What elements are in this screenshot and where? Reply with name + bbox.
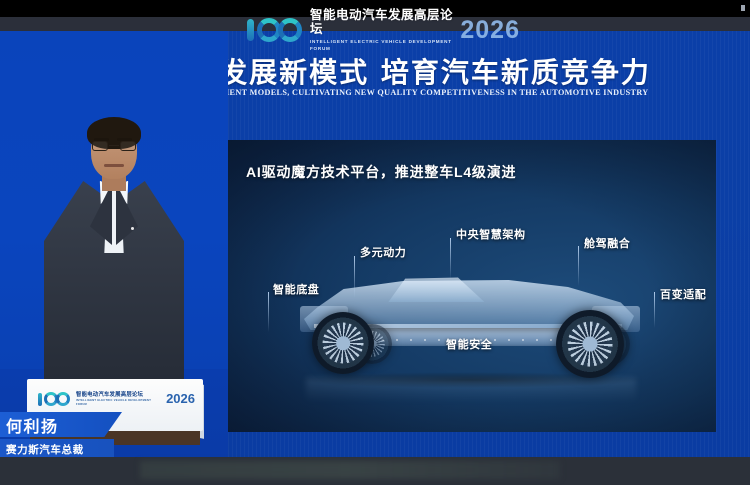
slide-title: AI驱动魔方技术平台，推进整车L4级演进 [246,162,516,182]
screen: 智能电动汽车发展高层论坛 INTELLIGENT ELECTRIC VEHICL… [0,0,750,485]
forum-100-logo-icon [37,391,73,408]
speaker-name: 何利扬 [6,413,59,437]
presentation-slide: AI驱动魔方技术平台，推进整车L4级演进 智能底盘 多元动力 中央智慧架构 舱驾… [228,140,716,432]
forum-title-en: INTELLIGENT ELECTRIC VEHICLE DEVELOPMENT… [310,38,454,52]
label-cockpit-driving-fusion: 舱驾融合 [584,235,630,251]
chrome-band-bottom [0,457,750,485]
callout-tick [578,246,579,286]
label-central-architecture: 中央智慧架构 [456,226,526,242]
label-smart-chassis: 智能底盘 [273,281,319,297]
forum-100-logo-icon [245,15,307,45]
label-smart-safety: 智能安全 [446,336,492,352]
forum-title-cn: 智能电动汽车发展高层论坛 [310,8,454,36]
podium-logo-title-cn: 智能电动汽车发展高层论坛 [76,392,161,399]
forum-header: 智能电动汽车发展高层论坛 INTELLIGENT ELECTRIC VEHICL… [245,12,520,47]
callout-tick [450,238,451,280]
lapel-pin-icon [131,227,134,230]
speaker-role: 赛力斯汽车总裁 [6,442,84,457]
speaker-name-badge: 何利扬 [0,412,122,437]
label-multi-power: 多元动力 [360,244,406,260]
callout-tick [268,292,269,332]
speaker-video-feed: 智能电动汽车发展高层论坛 INTELLIGENT ELECTRIC VEHICL… [0,31,228,457]
podium-logo-year: 2026 [166,392,195,406]
glasses-icon [92,141,136,151]
callout-tick [354,256,355,298]
callout-tick [654,292,655,328]
speaker-role-badge: 赛力斯汽车总裁 [0,439,114,457]
label-versatile-adaptation: 百变适配 [660,286,706,302]
podium-logo-title-en: INTELLIGENT ELECTRIC VEHICLE DEVELOPMENT… [76,399,161,407]
status-light-icon [741,5,745,11]
forum-year: 2026 [460,17,520,43]
podium-forum-logo: 智能电动汽车发展高层论坛 INTELLIGENT ELECTRIC VEHICL… [37,388,195,410]
